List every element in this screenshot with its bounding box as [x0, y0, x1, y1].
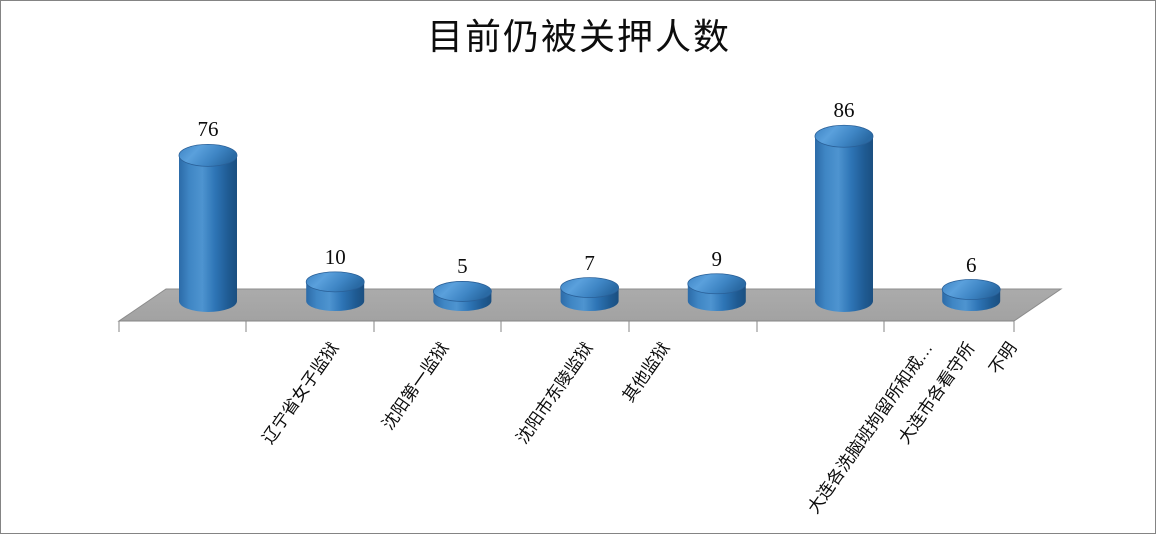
category-axis [119, 321, 1014, 332]
data-label: 86 [834, 100, 855, 121]
data-label: 7 [584, 253, 595, 274]
data-label: 9 [712, 249, 723, 270]
chart-container: 目前仍被关押人数 [0, 0, 1156, 534]
bar-cylinder[interactable] [433, 281, 491, 311]
data-label: 6 [966, 255, 977, 276]
chart-plot-area [1, 1, 1156, 534]
bar-cylinder[interactable] [306, 272, 364, 311]
bar-cylinder[interactable] [688, 274, 746, 311]
bar-cylinder[interactable] [561, 278, 619, 311]
bar-cylinder[interactable] [942, 280, 1000, 311]
bar-series [179, 125, 1000, 312]
bar-cylinder[interactable] [179, 144, 237, 312]
data-label: 10 [325, 247, 346, 268]
data-label: 5 [457, 256, 468, 277]
data-label: 76 [198, 119, 219, 140]
bar-cylinder[interactable] [815, 125, 873, 312]
